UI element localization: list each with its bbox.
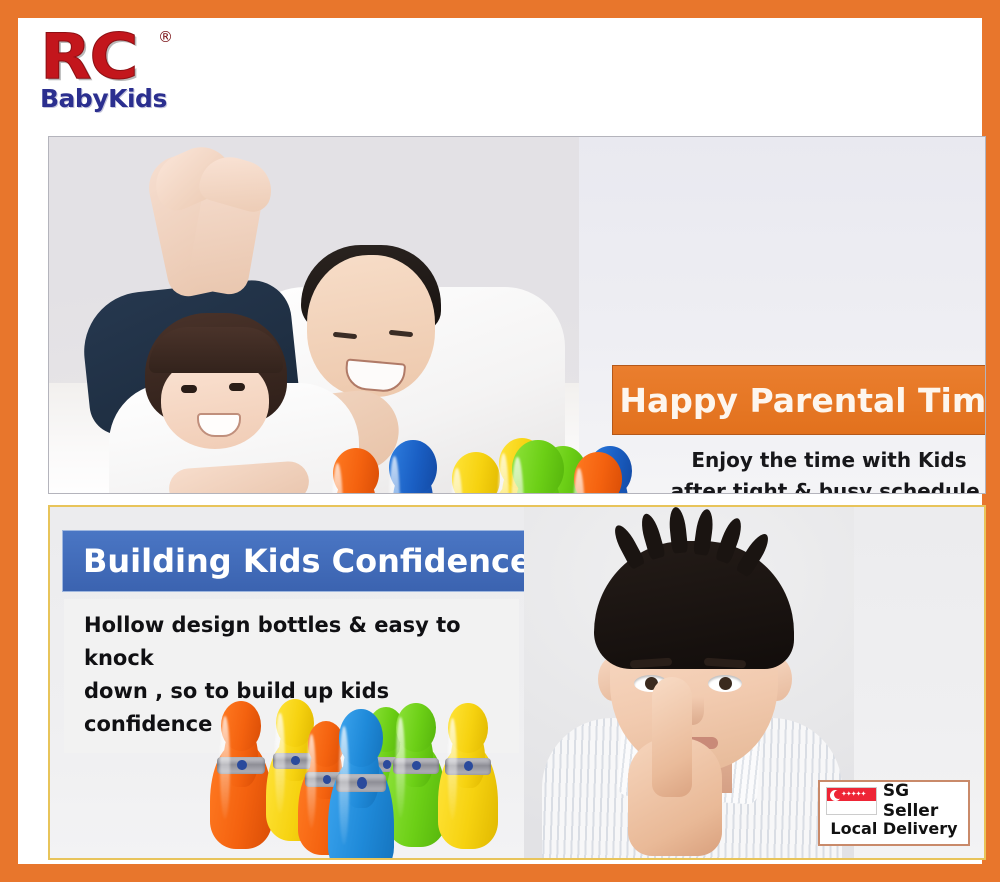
sg-seller-label: SG Seller [883,781,962,821]
logo-mark-rc: RC [40,26,136,88]
copy-line-1: Enjoy the time with Kids [649,445,986,476]
advertisement-inner: RC ® BabyKids [18,18,982,864]
banner-building-kids-confidence: Building Kids Confidence [62,530,544,592]
sg-seller-badge: ✦✦✦✦✦ SG Seller Local Delivery [818,780,970,846]
banner-label: Happy Parental Time [619,381,986,420]
copy-line-2: after tight & busy schedule. [649,476,986,494]
local-delivery-label: Local Delivery [826,819,962,838]
copy-happy-parental-time: Enjoy the time with Kids after tight & b… [649,445,986,494]
bowling-pin [561,452,635,494]
copy-line-1: Hollow design bottles & easy to knock [84,609,505,675]
panel-happy-parental-time: Happy Parental Time Enjoy the time with … [48,136,986,494]
bowling-pin [328,709,394,860]
bowling-pin [210,701,272,849]
bowling-pins-bottom-group [210,677,500,857]
advertisement-frame: RC ® BabyKids [0,0,1000,882]
bowling-pins-top-group [321,387,641,494]
brand-logo: RC ® BabyKids [40,26,210,126]
bowling-pin [438,703,498,849]
registered-trademark-icon: ® [158,28,173,46]
flag-stars: ✦✦✦✦✦ [841,791,865,798]
photo-boy-thumbs-up [524,507,854,858]
bowling-pin [386,703,446,847]
singapore-flag-icon: ✦✦✦✦✦ [826,787,877,815]
banner-label: Building Kids Confidence [83,542,532,580]
panel-building-kids-confidence: Building Kids Confidence Hollow design b… [48,505,986,860]
banner-happy-parental-time: Happy Parental Time [612,365,986,435]
